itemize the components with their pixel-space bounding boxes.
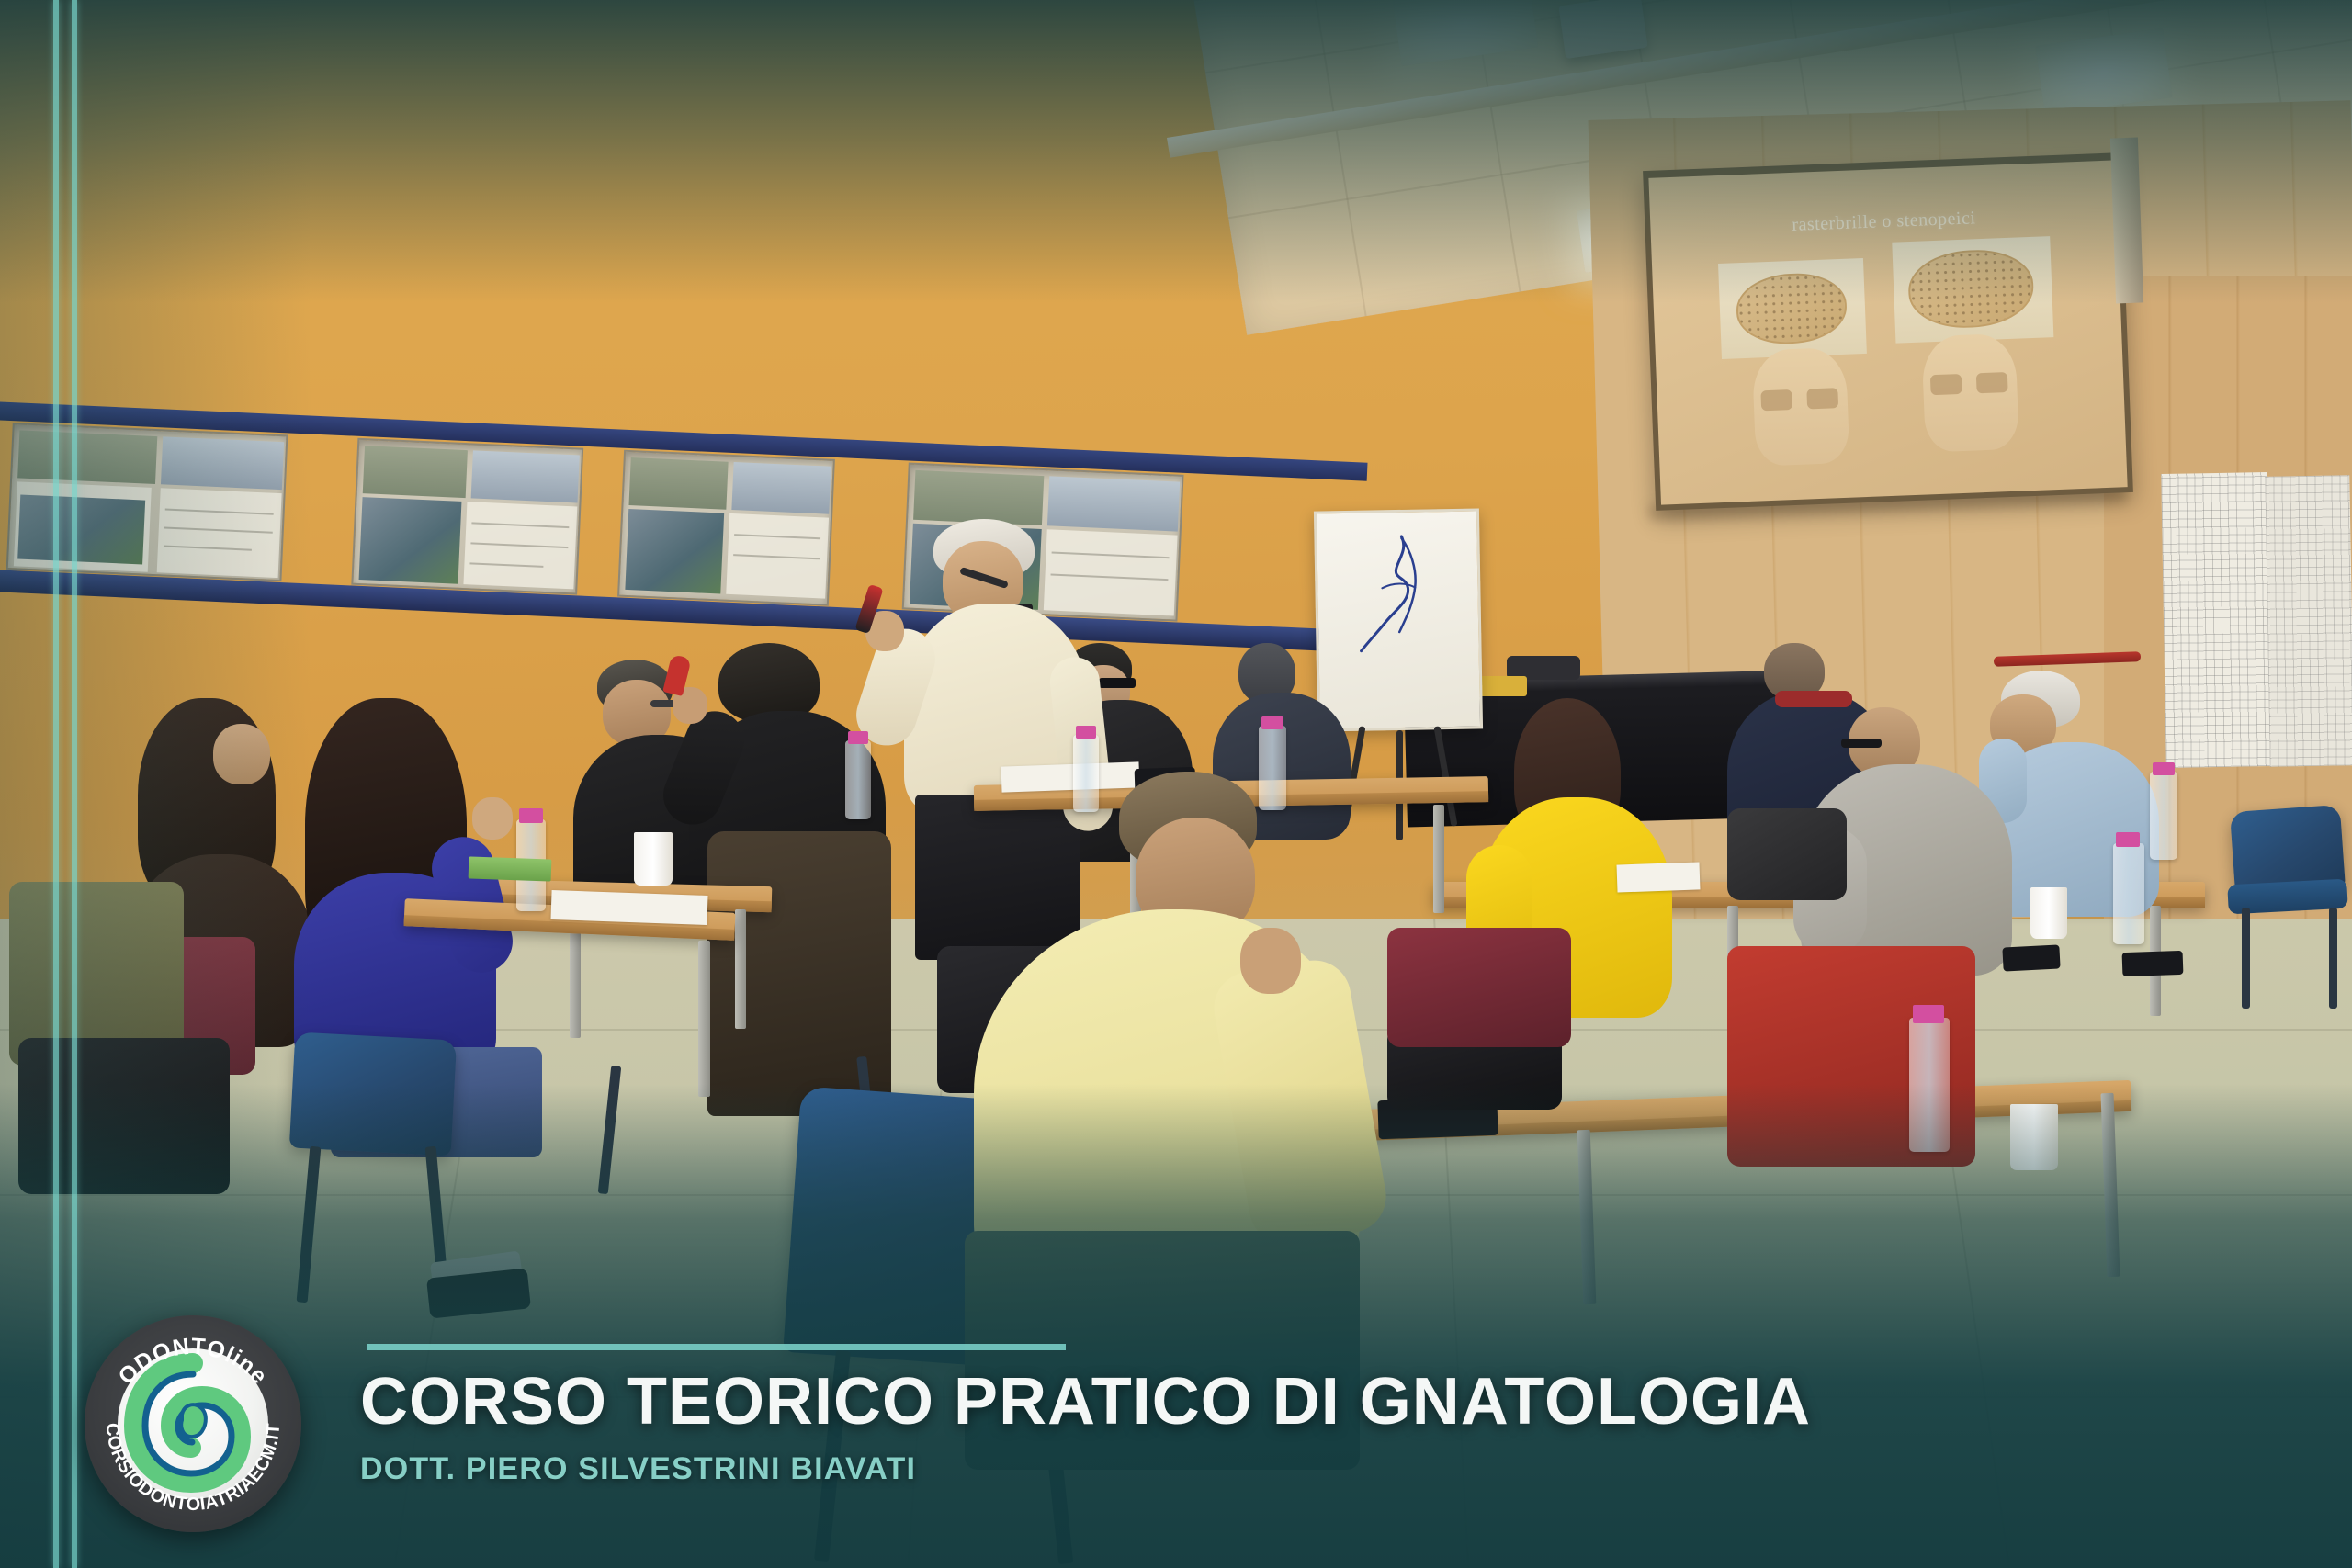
black-chair [1727, 808, 1847, 900]
notebook [469, 856, 552, 881]
paper-sheet [550, 890, 707, 925]
course-promo-image: rasterbrille o stenopeici [0, 0, 2352, 1568]
grid-flipchart-pad [2161, 472, 2272, 768]
architectural-poster-1 [6, 423, 288, 581]
logo-top-text: ODONTOline [113, 1334, 272, 1390]
screen-roller-housing [2110, 138, 2143, 304]
paper-cup [2010, 1104, 2058, 1170]
flipchart-sketch-icon [1353, 528, 1457, 668]
course-title: CORSO TEORICO PRATICO DI GNATOLOGIA [360, 1369, 1555, 1435]
bottle-cap [1076, 726, 1096, 739]
svg-text:CORSIODONTOIATRIAECM.IT: CORSIODONTOIATRIAECM.IT [102, 1422, 284, 1515]
slide-image-pinhole-left [1718, 258, 1867, 359]
smartphone [2002, 944, 2060, 971]
sunglasses-icon [1099, 678, 1136, 688]
blue-chair-back [289, 1032, 457, 1156]
bottle-cap [1913, 1005, 1944, 1023]
accent-vertical-line-1 [53, 0, 59, 1568]
paper-cup [634, 832, 673, 886]
bottle-cap [2153, 762, 2175, 775]
grid-flipchart-pad-2 [2265, 475, 2352, 767]
hand [1240, 928, 1301, 994]
water-bottle [1073, 735, 1099, 812]
hair [718, 643, 820, 722]
red-collar [1775, 691, 1852, 707]
speaker-trousers [915, 795, 1080, 960]
odontoline-logo[interactable]: ODONTOline CORSIODONTOIATRIAECM.IT [85, 1315, 301, 1532]
slide-image-face-left [1752, 347, 1850, 467]
projection-screen: rasterbrille o stenopeici [1643, 152, 2133, 511]
logo-bottom-text: CORSIODONTOIATRIAECM.IT [102, 1422, 284, 1515]
desk-leg [735, 909, 746, 1029]
bottle-cap [519, 808, 543, 823]
paper-cup [2030, 887, 2067, 939]
architectural-poster-2 [351, 438, 583, 595]
svg-text:ODONTOline: ODONTOline [113, 1334, 272, 1390]
slide-image-face-right [1921, 333, 2019, 453]
water-bottle [2113, 843, 2144, 944]
accent-vertical-line-2 [72, 0, 77, 1568]
chair-leg [2329, 908, 2337, 1009]
speaker-name: DOTT. PIERO SILVESTRINI BIAVATI [360, 1451, 1555, 1487]
architectural-poster-3 [617, 450, 835, 606]
head [213, 724, 270, 784]
glasses-icon [1841, 739, 1882, 748]
title-divider-rule [367, 1344, 1066, 1350]
paper-sheet [1617, 862, 1701, 892]
chair-leg [2242, 908, 2250, 1009]
black-backpack [18, 1038, 230, 1194]
water-bottle [1909, 1018, 1950, 1152]
flipchart-whiteboard [1314, 508, 1483, 731]
logo-arc-text: ODONTOline CORSIODONTOIATRIAECM.IT [85, 1315, 301, 1532]
slide-image-pinhole-right [1892, 236, 2053, 344]
hand [472, 797, 513, 840]
paper-sheet [1001, 761, 1140, 792]
bottle-cap [848, 731, 868, 744]
slide-surface: rasterbrille o stenopeici [1648, 160, 2127, 504]
title-block: CORSO TEORICO PRATICO DI GNATOLOGIA DOTT… [360, 1369, 1555, 1487]
desk-leg [698, 941, 710, 1097]
desk-leg [1433, 805, 1444, 913]
bottle-cap [2116, 832, 2140, 847]
water-bottle [845, 740, 871, 819]
water-bottle [1259, 726, 1286, 810]
water-bottle [2150, 772, 2177, 860]
bottle-cap [1261, 716, 1283, 729]
smartphone [2122, 951, 2184, 976]
burgundy-bag-right [1387, 928, 1571, 1047]
